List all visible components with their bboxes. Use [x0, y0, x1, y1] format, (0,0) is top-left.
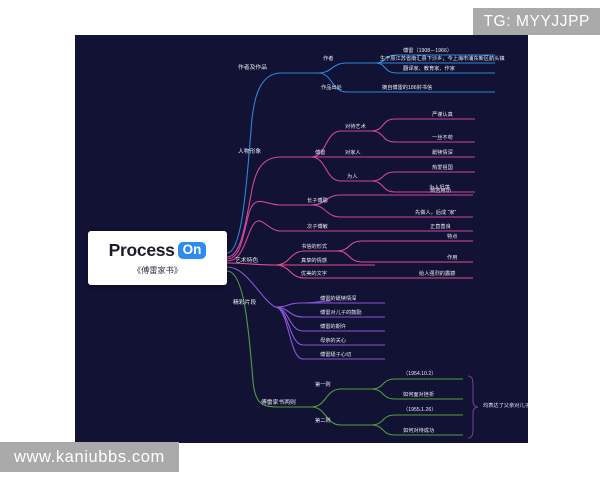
node-eldest-son[interactable]: 长子傅聪 — [307, 199, 328, 204]
node-author-professions[interactable]: 翻译家、教育家、作家 — [403, 67, 455, 72]
node-highlight-3[interactable]: 傅雷的期许 — [320, 325, 346, 330]
processon-logo: Process On — [109, 240, 207, 261]
logo-text: Process — [109, 240, 175, 261]
node-letter-two[interactable]: 第二则 — [315, 419, 331, 424]
node-work-source-detail[interactable]: 摘自傅雷的186封书信 — [382, 86, 432, 91]
node-letter-function[interactable]: 作用 — [447, 256, 457, 261]
node-letters-annotation: 均表达了父亲对儿子的眷恋之情 — [483, 404, 528, 409]
node-patriotism[interactable]: 热爱祖国 — [432, 166, 453, 171]
node-diligent[interactable]: 刻苦用功 — [430, 189, 451, 194]
node-highlight-1[interactable]: 傅雷的舐犊情深 — [320, 297, 356, 302]
node-character-image[interactable]: 人物形象 — [238, 150, 261, 156]
watermark-bottom-left: www.kaniubbs.com — [0, 442, 179, 472]
node-letter-traits[interactable]: 特点 — [447, 235, 457, 240]
node-beautiful-text[interactable]: 优美的文字 — [301, 272, 327, 277]
node-highlight-5[interactable]: 傅雷舐子心切 — [320, 353, 351, 358]
node-parental-love[interactable]: 舐犊情深 — [432, 151, 453, 156]
node-highlights[interactable]: 精彩片段 — [233, 301, 256, 307]
node-highlight-2[interactable]: 傅雷对儿子的鼓励 — [320, 311, 362, 316]
node-two-letters[interactable]: 傅雷家书两则 — [261, 401, 296, 407]
node-second-son[interactable]: 次子傅敏 — [307, 225, 328, 230]
node-sincere-emotion[interactable]: 真挚的情感 — [301, 259, 327, 264]
node-work-source[interactable]: 作品出处 — [321, 86, 342, 91]
node-highlight-4[interactable]: 母亲的关心 — [320, 339, 346, 344]
mindmap-canvas: Process On 《傅雷家书》 作者及作品 作者 傅雷（1908－1966）… — [75, 35, 528, 443]
center-node-subtitle: 《傅雷家书》 — [133, 264, 182, 276]
node-fulei[interactable]: 傅雷 — [315, 151, 325, 156]
node-artistic-features[interactable]: 艺术特色 — [235, 259, 258, 265]
node-kindhearted[interactable]: 正直善良 — [430, 225, 451, 230]
node-toward-family[interactable]: 对家人 — [345, 151, 361, 156]
node-author-lifespan[interactable]: 傅雷（1908－1966） — [403, 49, 452, 54]
center-node[interactable]: Process On 《傅雷家书》 — [88, 231, 227, 285]
logo-badge: On — [178, 242, 207, 260]
node-letter-one-date[interactable]: （1954.10.2） — [403, 372, 436, 377]
node-letter-form[interactable]: 书信的形式 — [301, 245, 327, 250]
node-toward-art[interactable]: 对待艺术 — [345, 125, 366, 130]
node-author[interactable]: 作者 — [323, 57, 333, 62]
node-strong-impact[interactable]: 给人强烈的震撼 — [419, 272, 455, 277]
watermark-top-right: TG: MYYJJPP — [473, 8, 600, 35]
node-author-birthplace[interactable]: 生于原江苏省南汇县下沙乡，今上海市浦东新区航头镇 — [380, 57, 505, 62]
node-letter-one-topic[interactable]: 如何面对挫折 — [403, 393, 434, 398]
node-rigorous[interactable]: 严谨认真 — [432, 113, 453, 118]
node-conduct[interactable]: 为人 — [347, 175, 357, 180]
node-letter-two-topic[interactable]: 如何对待成功 — [403, 429, 434, 434]
node-letter-one[interactable]: 第一则 — [315, 383, 331, 388]
node-meticulous[interactable]: 一丝不苟 — [432, 136, 453, 141]
node-letter-two-date[interactable]: （1955.1.26） — [403, 408, 436, 413]
node-author-and-works[interactable]: 作者及作品 — [238, 66, 267, 72]
node-person-first[interactable]: 先做人，后成 “家” — [415, 211, 456, 216]
